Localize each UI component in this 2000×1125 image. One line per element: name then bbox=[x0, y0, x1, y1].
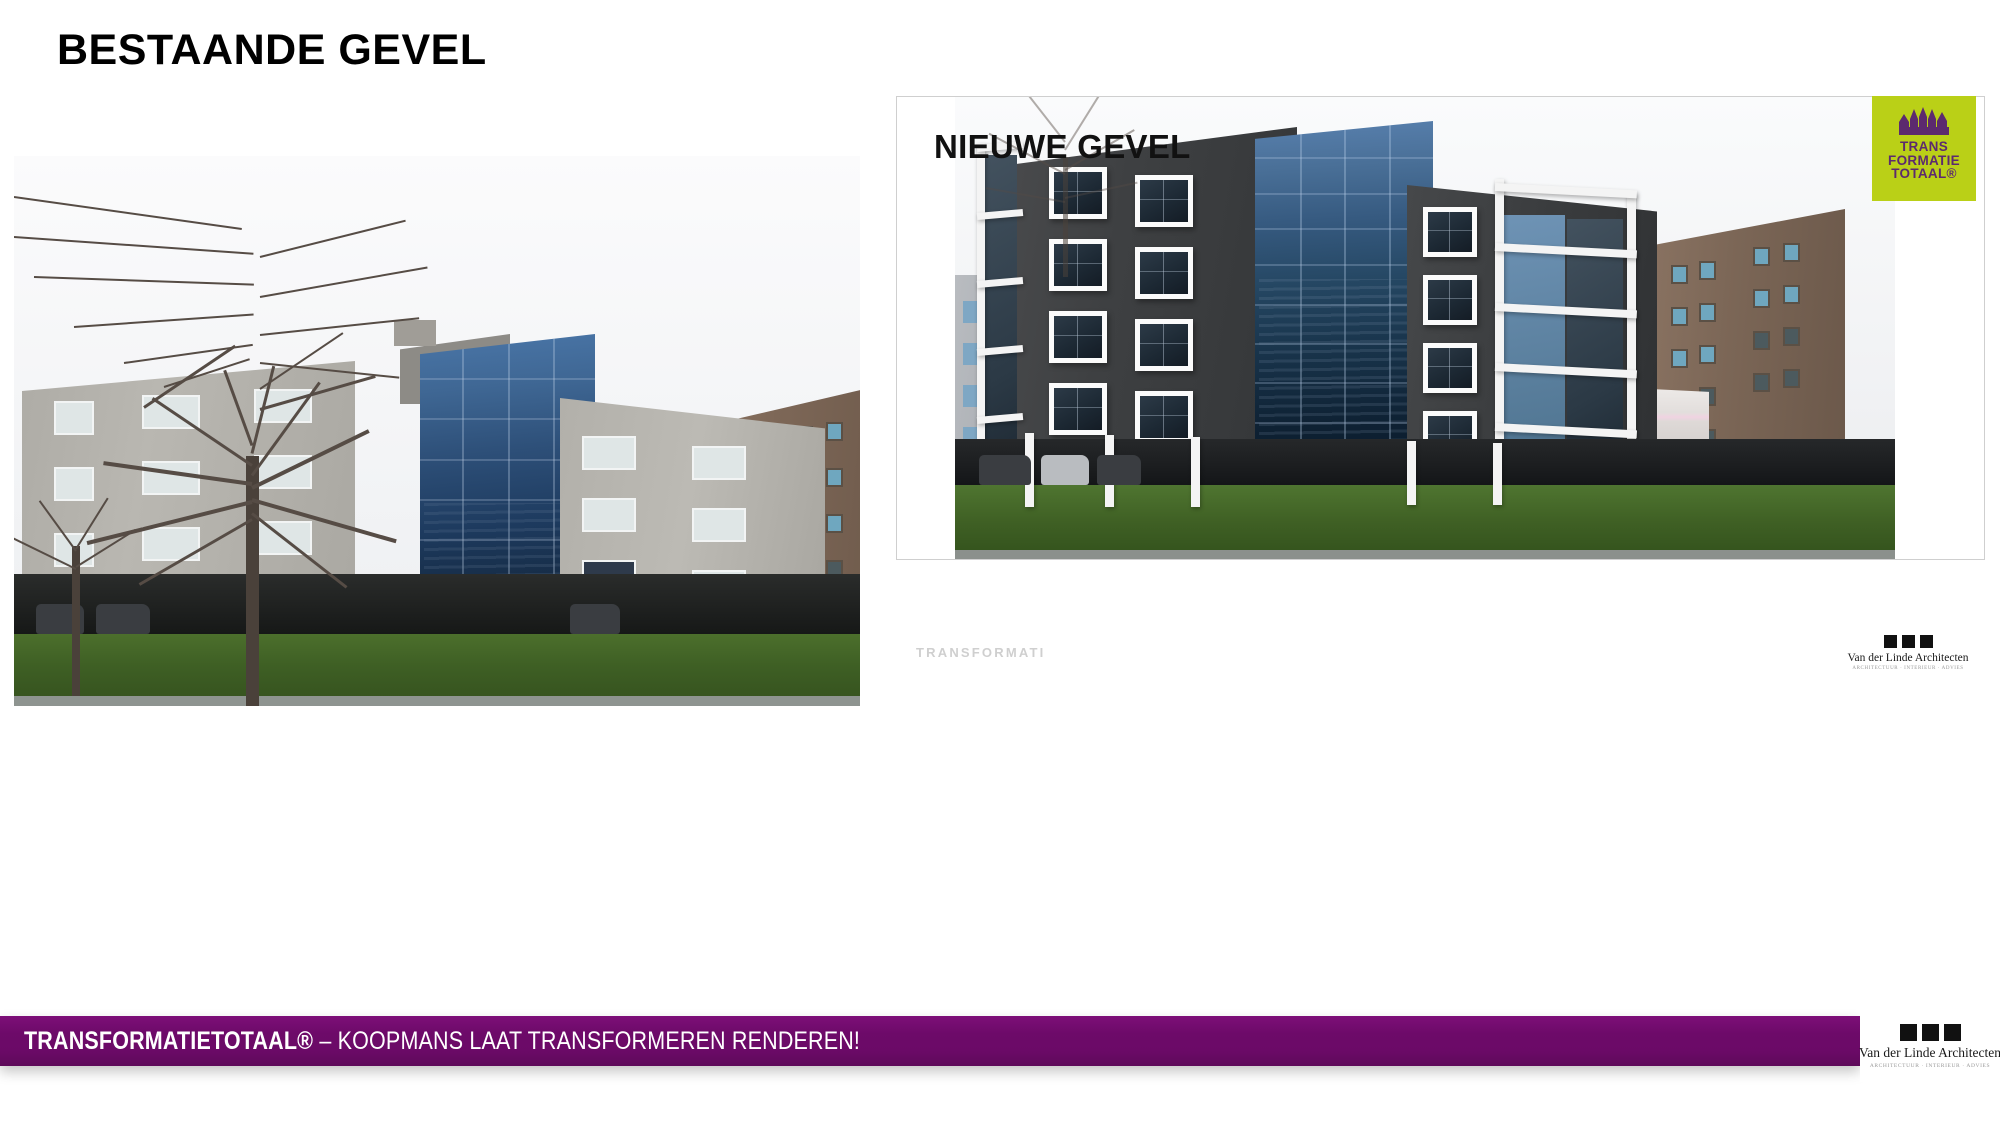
new-facade-left-wing bbox=[1003, 127, 1297, 479]
existing-facade-photo bbox=[14, 156, 860, 706]
transformatietotaal-logo: TRANS FORMATIE TOTAAL® bbox=[1872, 96, 1976, 201]
van-der-linde-architecten-logo: Van der Linde Architecten ARCHITECTUUR ·… bbox=[1838, 622, 1978, 684]
logo-line-2: FORMATIE bbox=[1888, 154, 1960, 168]
new-facade-render bbox=[955, 97, 1895, 559]
lawn bbox=[955, 485, 1895, 559]
logo-line-1: TRANS bbox=[1900, 140, 1948, 154]
presentation-slide: BESTAANDE GEVEL bbox=[0, 0, 2000, 1125]
footer-text: TRANSFORMATIETOTAAL® – KOOPMANS LAAT TRA… bbox=[24, 1027, 860, 1056]
logo-company-name: Van der Linde Architecten bbox=[1847, 652, 1968, 664]
chimney bbox=[394, 320, 436, 346]
page-title: BESTAANDE GEVEL bbox=[57, 26, 487, 75]
logo-squares-icon bbox=[1900, 1024, 1961, 1041]
lawn bbox=[14, 634, 860, 706]
footer-bar: TRANSFORMATIETOTAAL® – KOOPMANS LAAT TRA… bbox=[0, 1016, 1860, 1066]
logo-tagline: ARCHITECTUUR · INTERIEUR · ADVIES bbox=[1870, 1063, 1990, 1069]
logo-squares-icon bbox=[1884, 635, 1933, 648]
glass-stair-tower bbox=[1255, 121, 1433, 479]
parked-cars bbox=[1041, 455, 1089, 485]
transformatietotaal-watermark: TRANSFORMATI bbox=[916, 645, 1045, 660]
footer-van-der-linde-logo: Van der Linde Architecten ARCHITECTUUR ·… bbox=[1860, 1010, 2000, 1082]
logo-line-3: TOTAAL® bbox=[1891, 167, 1957, 181]
footer-brand: TRANSFORMATIETOTAAL® bbox=[24, 1027, 313, 1055]
parked-cars bbox=[96, 604, 150, 634]
ground-floor-band bbox=[955, 439, 1895, 485]
new-facade-title: NIEUWE GEVEL bbox=[934, 128, 1191, 166]
logo-company-name: Van der Linde Architecten bbox=[1859, 1045, 2000, 1061]
parked-cars bbox=[1097, 455, 1141, 485]
parked-cars bbox=[570, 604, 620, 634]
parked-cars bbox=[979, 455, 1031, 485]
factory-icon bbox=[1897, 105, 1951, 135]
footer-separator: – bbox=[313, 1027, 337, 1055]
footer-tagline: KOOPMANS LAAT TRANSFORMEREN RENDEREN! bbox=[338, 1027, 860, 1055]
logo-tagline: ARCHITECTUUR · INTERIEUR · ADVIES bbox=[1852, 666, 1963, 671]
